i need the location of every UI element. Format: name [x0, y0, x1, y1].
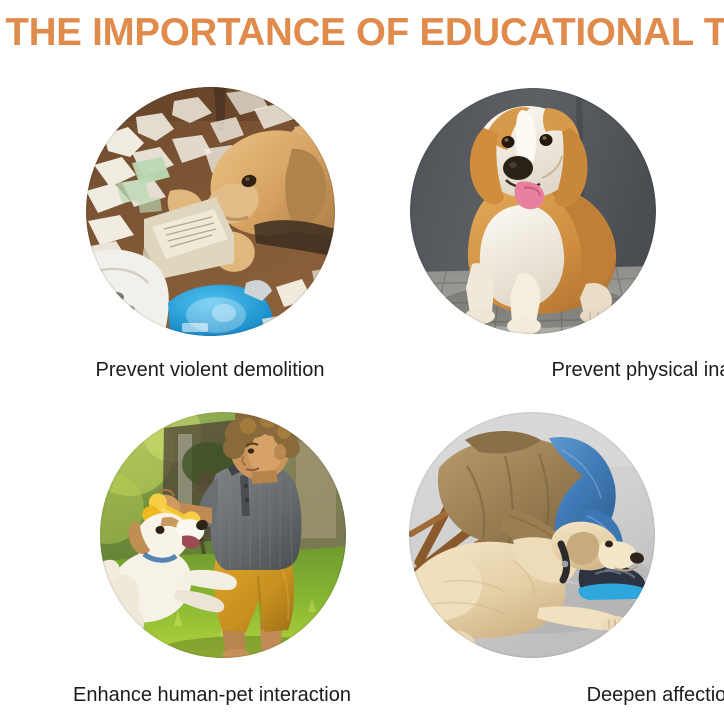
- photo-overweight-beagle: [410, 88, 656, 334]
- photo-boy-playing-with-dog: [100, 412, 346, 658]
- caption-deepen-affection: Deepen affection: [300, 683, 724, 707]
- page-title: THE IMPORTANCE OF EDUCATIONAL TOYS: [5, 11, 718, 55]
- photo-person-petting-dog: [409, 412, 655, 658]
- photo-dog-shredding-paper: [86, 87, 335, 336]
- caption-prevent-physical-inactivity: Prevent physical inactivity: [304, 358, 724, 382]
